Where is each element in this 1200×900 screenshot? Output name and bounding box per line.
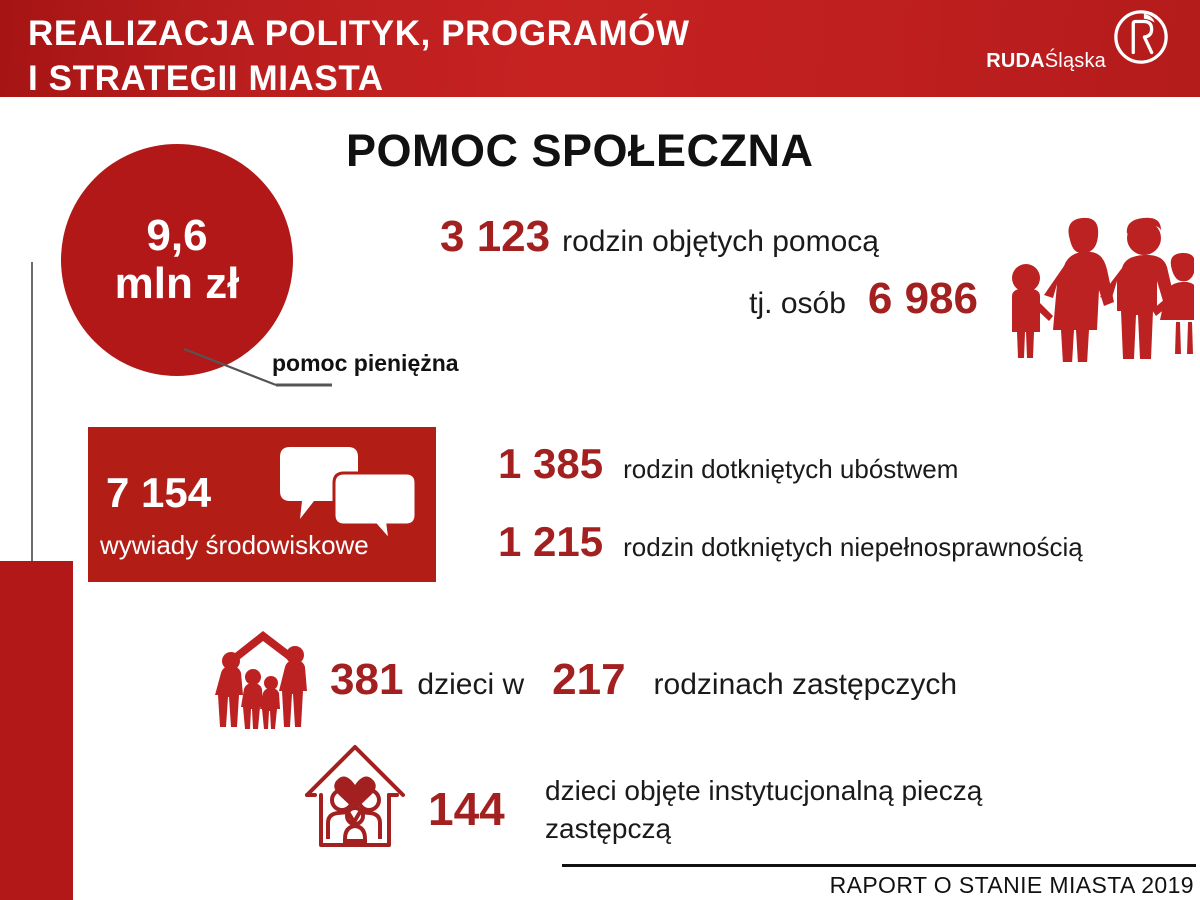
persons-helped-prefix: tj. osób: [749, 287, 846, 320]
ruda-slaska-r-emblem-icon: [1112, 8, 1170, 66]
left-red-block: [0, 561, 73, 900]
interviews-box: 7 154 wywiady środowiskowe: [88, 427, 436, 582]
families-helped-text: rodzin objętych pomocą: [562, 225, 879, 258]
persons-helped-line: tj. osób6 986: [440, 274, 1000, 324]
poverty-text: rodzin dotkniętych ubóstwem: [623, 454, 958, 484]
ruda-slaska-logo: RUDAŚląska: [988, 8, 1178, 90]
house-with-heart-icon: [303, 737, 408, 855]
families-helped-line: 3 123rodzin objętych pomocą: [440, 212, 1000, 262]
poverty-row: 1 385rodzin dotkniętych ubóstwem: [498, 440, 1198, 488]
footer-rule: [562, 864, 1196, 867]
institutional-number: 144: [428, 782, 505, 836]
family-of-four-silhouette-icon: [994, 186, 1194, 362]
infographic-page: REALIZACJA POLITYK, PROGRAMÓW I STRATEGI…: [0, 0, 1200, 900]
family-under-roof-icon: [213, 627, 313, 729]
money-unit: mln zł: [115, 259, 240, 308]
poverty-number: 1 385: [498, 440, 603, 487]
header-title: REALIZACJA POLITYK, PROGRAMÓW I STRATEGI…: [28, 12, 928, 102]
disability-text: rodzin dotkniętych niepełnosprawnością: [623, 532, 1083, 562]
logo-name-light: Śląska: [1045, 50, 1106, 72]
disability-number: 1 215: [498, 518, 603, 565]
foster-tail-text: rodzinach zastępczych: [654, 668, 958, 701]
money-circle: 9,6 mln zł: [61, 144, 293, 376]
left-vertical-rule: [31, 262, 33, 562]
institutional-text: dzieci objęte instytucjonalną pieczą zas…: [545, 772, 1105, 848]
money-circle-label: pomoc pieniężna: [272, 350, 459, 377]
interviews-number: 7 154: [106, 469, 211, 517]
speech-bubbles-icon: [276, 445, 424, 545]
footer-text: RAPORT O STANIE MIASTA 2019: [830, 872, 1194, 899]
foster-families-row: 381dzieci w217rodzinach zastępczych: [330, 655, 957, 705]
disability-row: 1 215rodzin dotkniętych niepełnosprawnoś…: [498, 518, 1198, 566]
foster-families-number: 217: [552, 655, 625, 704]
families-helped-row: 3 123rodzin objętych pomocą tj. osób6 98…: [440, 212, 1000, 324]
foster-mid-text: dzieci w: [417, 668, 524, 701]
header-bar: REALIZACJA POLITYK, PROGRAMÓW I STRATEGI…: [0, 0, 1200, 97]
foster-children-number: 381: [330, 655, 403, 704]
logo-wordmark: RUDAŚląska: [986, 50, 1106, 73]
persons-helped-number: 6 986: [868, 274, 978, 323]
families-helped-number: 3 123: [440, 212, 550, 261]
logo-name-bold: RUDA: [986, 50, 1045, 72]
page-title: POMOC SPOŁECZNA: [346, 125, 814, 177]
money-amount: 9,6: [146, 212, 207, 260]
